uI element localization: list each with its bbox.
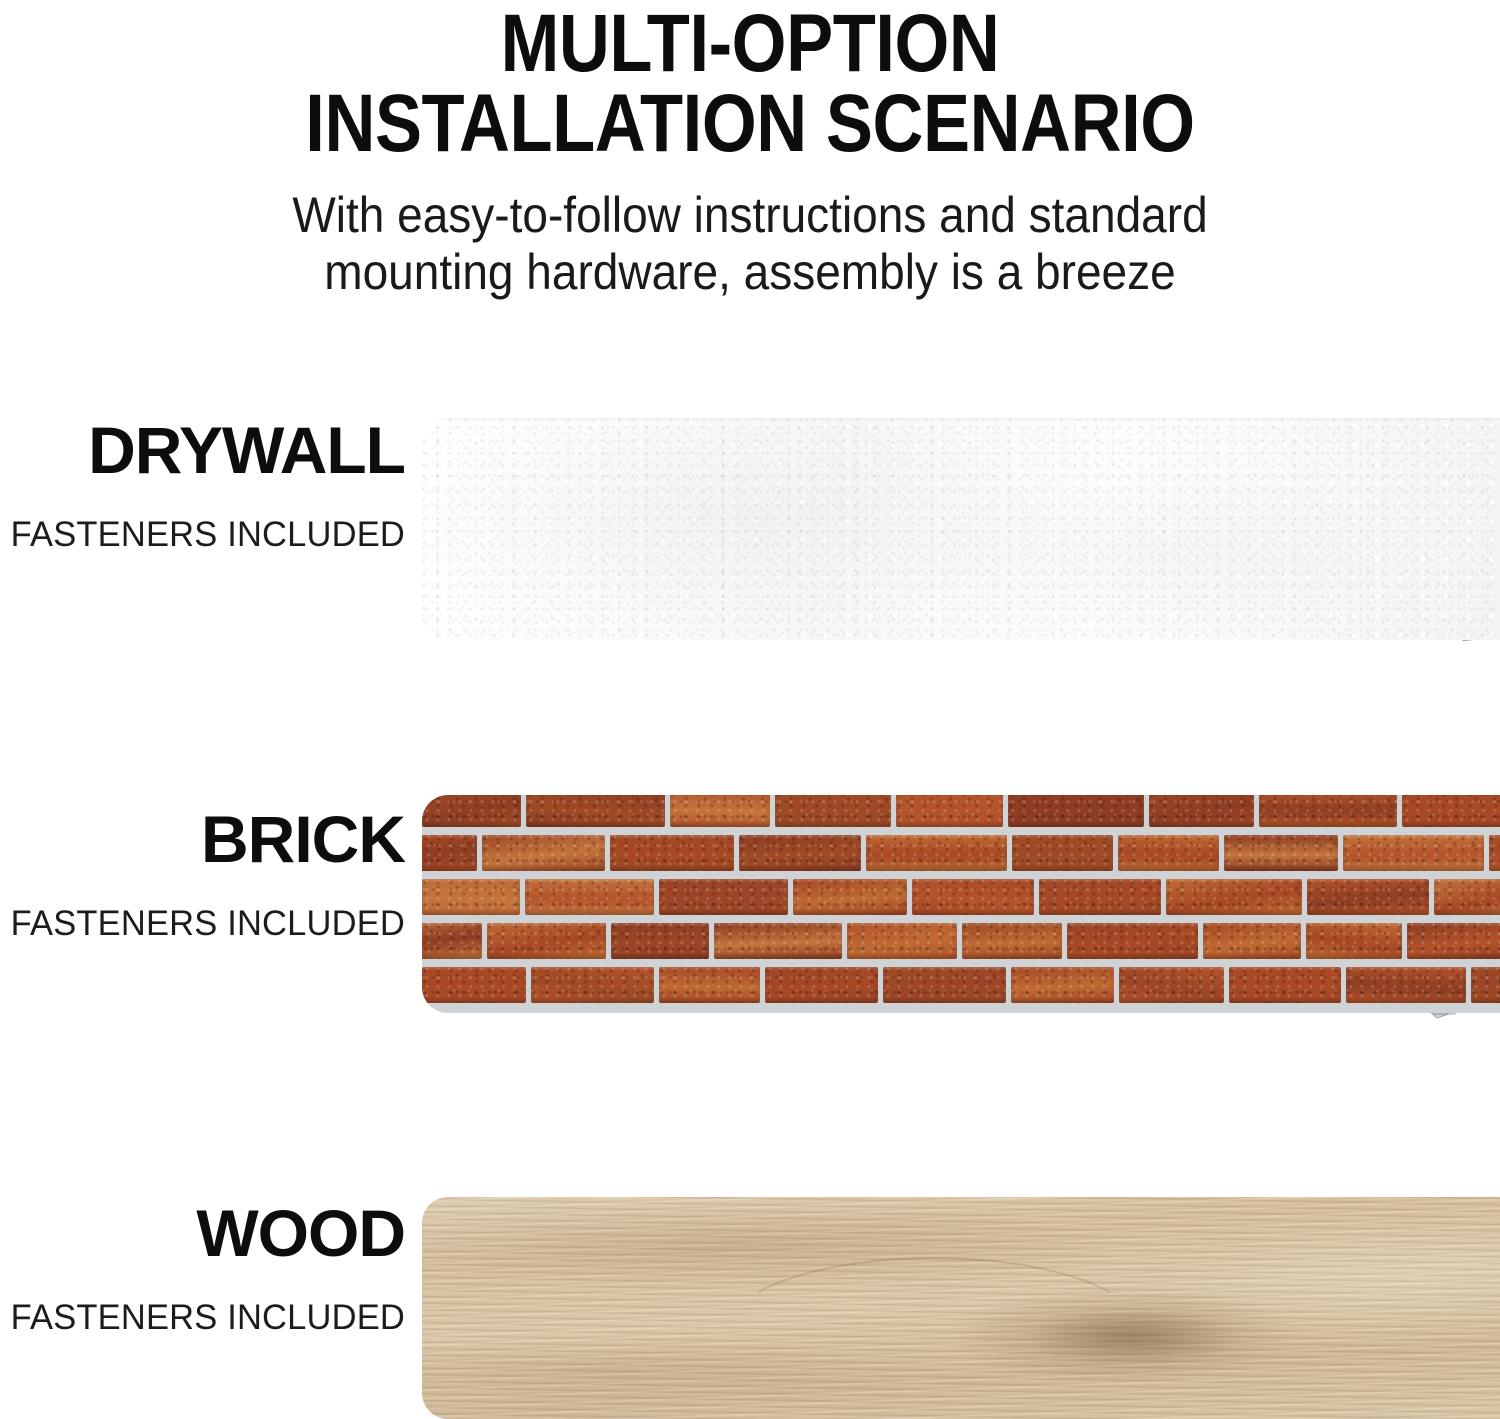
brick-unit: [1229, 967, 1341, 1003]
fasteners-included-drywall: FASTENERS INCLUDED: [6, 483, 405, 552]
brick-unit: [1203, 923, 1301, 959]
brick-unit: [659, 967, 760, 1003]
brick-unit: [962, 923, 1062, 959]
brick-texture-swatch: [422, 795, 1500, 1013]
brick-row: [422, 919, 1500, 963]
brick-unit: [793, 879, 907, 915]
brick-unit: [1407, 923, 1500, 959]
surface-name-wood: WOOD: [0, 1200, 405, 1266]
wood-texture-swatch: [422, 1197, 1500, 1419]
page-title: MULTI-OPTION INSTALLATION SCENARIO: [105, 0, 1395, 163]
brick-unit: [1346, 967, 1466, 1003]
brick-unit: [422, 923, 482, 959]
brick-unit: [670, 795, 770, 827]
brick-unit: [611, 923, 709, 959]
brick-unit: [714, 923, 842, 959]
brick-unit: [1489, 835, 1500, 871]
brick-unit: [526, 795, 665, 827]
brick-unit: [1118, 835, 1219, 871]
brick-unit: [1119, 967, 1224, 1003]
brick-unit: [1307, 879, 1429, 915]
brick-unit: [765, 967, 878, 1003]
brick-unit: [896, 795, 1003, 827]
brick-row: [422, 795, 1500, 831]
surface-row-wood: WOOD FASTENERS INCLUDED: [0, 1197, 1500, 1419]
brick-row: [422, 963, 1500, 1007]
brick-unit: [1067, 923, 1198, 959]
brick-unit: [912, 879, 1034, 915]
brick-unit: [1471, 967, 1500, 1003]
brick-unit: [1259, 795, 1397, 827]
brick-unit: [866, 835, 1007, 871]
brick-unit: [1343, 835, 1484, 871]
header: MULTI-OPTION INSTALLATION SCENARIO With …: [0, 0, 1500, 301]
brick-unit: [1306, 923, 1402, 959]
brick-unit: [1149, 795, 1254, 827]
brick-unit: [775, 795, 891, 827]
brick-unit: [422, 967, 526, 1003]
brick-unit: [1012, 835, 1113, 871]
brick-unit: [1008, 795, 1144, 827]
fasteners-included-brick: FASTENERS INCLUDED: [6, 872, 405, 941]
brick-row: [422, 875, 1500, 919]
page-subtitle: With easy-to-follow instructions and sta…: [60, 163, 1440, 301]
drywall-shading-overlay: [422, 418, 1500, 640]
brick-unit: [422, 879, 520, 915]
wood-label-column: WOOD FASTENERS INCLUDED: [0, 1200, 405, 1335]
brick-unit: [1166, 879, 1302, 915]
brick-unit: [1039, 879, 1161, 915]
brick-unit: [659, 879, 788, 915]
brick-unit: [883, 967, 1006, 1003]
surface-row-brick: BRICK FASTENERS INCLUDED: [0, 795, 1500, 1013]
brick-unit: [525, 879, 654, 915]
brick-unit: [422, 795, 521, 827]
brick-unit: [422, 835, 477, 871]
brick-unit: [610, 835, 734, 871]
brick-row: [422, 831, 1500, 875]
fasteners-included-wood: FASTENERS INCLUDED: [6, 1266, 405, 1335]
brick-unit: [1011, 967, 1114, 1003]
brick-unit: [1224, 835, 1338, 871]
wood-grain-arc: [722, 1257, 1146, 1411]
brick-unit: [487, 923, 606, 959]
drywall-label-column: DRYWALL FASTENERS INCLUDED: [0, 417, 405, 552]
surface-row-drywall: DRYWALL FASTENERS INCLUDED: [0, 418, 1500, 640]
brick-unit: [847, 923, 957, 959]
drywall-texture-swatch: [422, 418, 1500, 640]
surface-name-brick: BRICK: [0, 806, 405, 872]
brick-unit: [1434, 879, 1500, 915]
brick-unit: [739, 835, 861, 871]
brick-unit: [531, 967, 654, 1003]
brick-unit: [482, 835, 605, 871]
surface-name-drywall: DRYWALL: [0, 417, 405, 483]
brick-label-column: BRICK FASTENERS INCLUDED: [0, 806, 405, 941]
brick-unit: [1402, 795, 1500, 827]
